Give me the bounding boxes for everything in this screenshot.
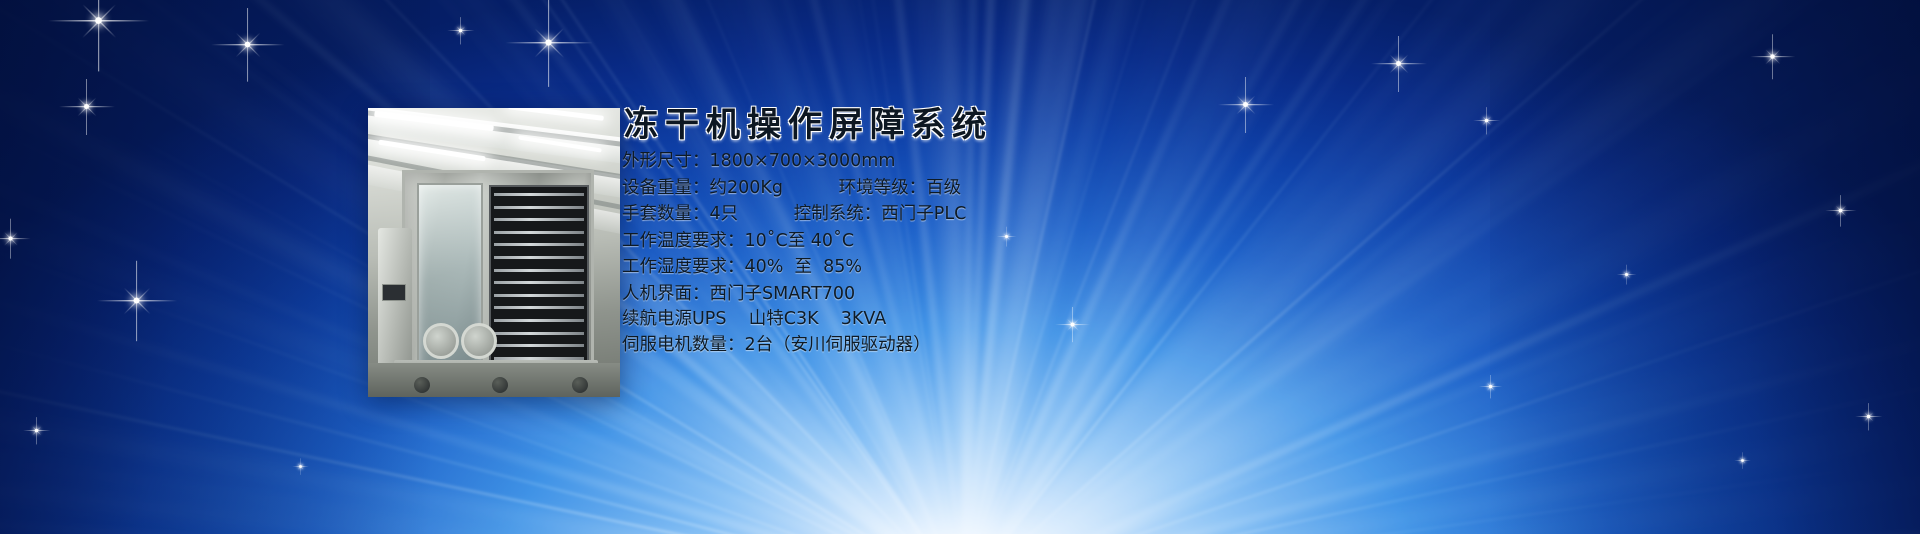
glove-port [423, 323, 459, 359]
caster-wheel [414, 377, 430, 393]
dryer-shelf [494, 206, 584, 209]
dryer-shelf [494, 319, 584, 322]
caster-wheel [492, 377, 508, 393]
dryer-shelf [494, 344, 584, 347]
dryer-shelf [494, 231, 584, 234]
control-column [378, 228, 412, 380]
dryer-shelf [494, 332, 584, 335]
dryer-shelf [494, 281, 584, 284]
spec-line: 工作温度要求：10˚C至 40˚C [622, 233, 1482, 251]
dryer-shelf [494, 193, 584, 196]
freeze-dryer-shelf-stack [489, 185, 589, 385]
dryer-shelf [494, 243, 584, 246]
spec-line: 伺服电机数量：2台（安川伺服驱动器） [622, 337, 1482, 355]
control-panel-screen [382, 284, 406, 301]
text-block: 冻干机操作屏障系统 外形尺寸：1800×700×3000mm设备重量：约200K… [622, 106, 1482, 362]
spec-line: 手套数量：4只 控制系统：西门子PLC [622, 206, 1482, 224]
product-banner: 冻干机操作屏障系统 外形尺寸：1800×700×3000mm设备重量：约200K… [0, 0, 1920, 534]
product-photo [368, 108, 620, 397]
spec-line: 续航电源UPS 山特C3K 3KVA [622, 311, 1482, 329]
background-left-shade [0, 0, 430, 534]
spec-list: 外形尺寸：1800×700×3000mm设备重量：约200Kg 环境等级：百级手… [622, 153, 1482, 354]
dryer-shelf [494, 306, 584, 309]
dryer-shelf [494, 294, 584, 297]
background-right-shade [1490, 0, 1920, 534]
spec-line: 设备重量：约200Kg 环境等级：百级 [622, 180, 1482, 198]
dryer-shelf [494, 218, 584, 221]
spec-line: 人机界面：西门子SMART700 [622, 286, 1482, 304]
glove-port [461, 323, 497, 359]
spec-line: 外形尺寸：1800×700×3000mm [622, 153, 1482, 171]
caster-wheel [572, 377, 588, 393]
dryer-shelf [494, 269, 584, 272]
spec-line: 工作湿度要求：40% 至 85% [622, 259, 1482, 277]
product-title: 冻干机操作屏障系统 [624, 106, 1482, 144]
dryer-shelf [494, 256, 584, 259]
